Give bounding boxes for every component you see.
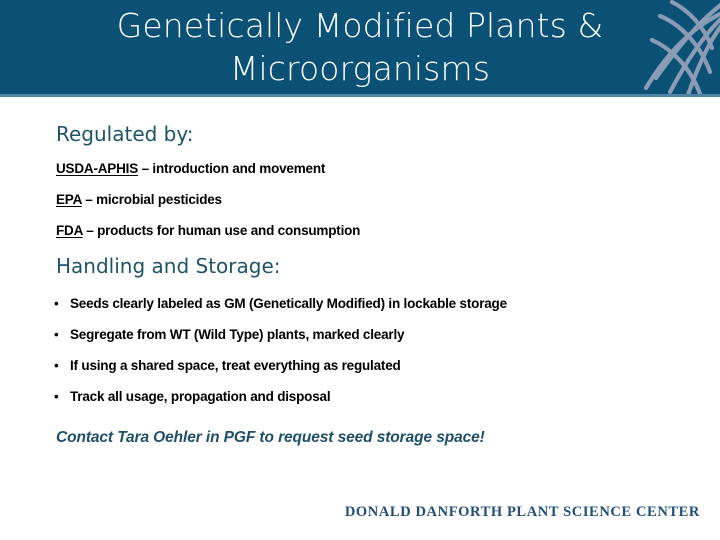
agency-detail: – introduction and movement: [138, 161, 325, 176]
list-item: • Segregate from WT (Wild Type) plants, …: [54, 326, 404, 344]
page-title: Genetically Modified Plants & Microorgan…: [60, 4, 660, 90]
list-item: • If using a shared space, treat everyth…: [54, 357, 401, 375]
slide: Genetically Modified Plants & Microorgan…: [0, 0, 720, 540]
organization-logo-wordmark: DONALD DANFORTH PLANT SCIENCE CENTER: [345, 504, 700, 521]
list-item-label: Seeds clearly labeled as GM (Genetically…: [70, 295, 507, 313]
section-heading-handling-and-storage: Handling and Storage:: [56, 254, 280, 278]
bullet-marker-icon: •: [54, 388, 70, 406]
agency-name: USDA-APHIS: [56, 161, 138, 176]
list-item-label: Track all usage, propagation and disposa…: [70, 388, 330, 406]
regulated-line: EPA – microbial pesticides: [56, 191, 222, 209]
regulated-line: USDA-APHIS – introduction and movement: [56, 160, 325, 178]
section-heading-regulated-by: Regulated by:: [56, 122, 194, 146]
list-item: • Track all usage, propagation and dispo…: [54, 388, 330, 406]
agency-name: EPA: [56, 192, 82, 207]
slide-body: Regulated by: USDA-APHIS – introduction …: [0, 94, 720, 540]
list-item-label: Segregate from WT (Wild Type) plants, ma…: [70, 326, 404, 344]
regulated-line: FDA – products for human use and consump…: [56, 222, 360, 240]
slide-header-band: Genetically Modified Plants & Microorgan…: [0, 0, 720, 94]
list-item-label: If using a shared space, treat everythin…: [70, 357, 401, 375]
agency-name: FDA: [56, 223, 83, 238]
agency-detail: – microbial pesticides: [82, 192, 222, 207]
list-item: • Seeds clearly labeled as GM (Genetical…: [54, 295, 507, 313]
contact-call-to-action: Contact Tara Oehler in PGF to request se…: [56, 428, 485, 448]
bullet-marker-icon: •: [54, 326, 70, 344]
bullet-marker-icon: •: [54, 295, 70, 313]
agency-detail: – products for human use and consumption: [83, 223, 361, 238]
bullet-marker-icon: •: [54, 357, 70, 375]
